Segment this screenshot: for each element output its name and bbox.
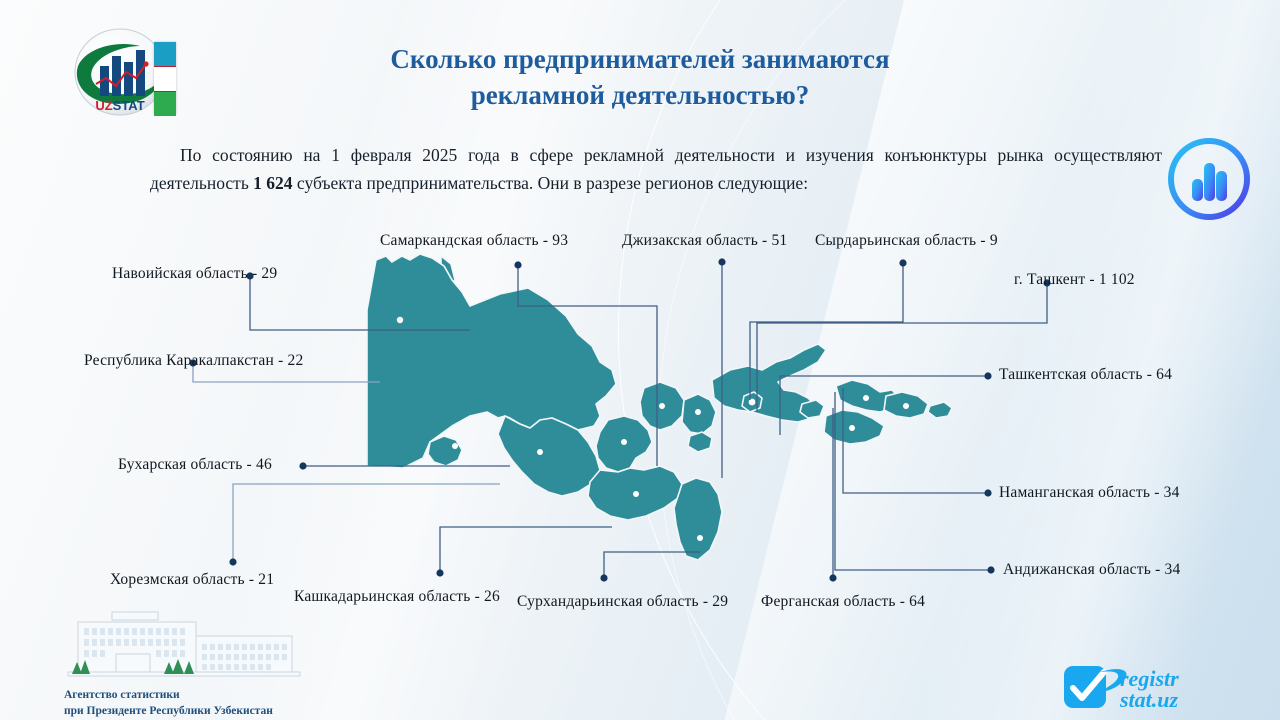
connector-syrdarya [750, 263, 903, 400]
region-label-karakalpak: Республика Каракалпакстан - 22 [84, 352, 303, 370]
registrstat-logo[interactable]: registr stat.uz [1062, 660, 1262, 712]
region-label-tashkent-city: г. Ташкент - 1 102 [1014, 271, 1135, 289]
connector-tashkent-region [780, 376, 988, 435]
agency-caption-line1: Агентство статистики [64, 688, 334, 704]
connector-samarkand [518, 265, 657, 466]
infographic-canvas: UZSTAT Сколько предпринимателей занимают… [0, 0, 1280, 720]
region-label-andijan: Андижанская область - 34 [1003, 561, 1180, 579]
connector-surkhandarya [604, 552, 700, 578]
region-label-namangan: Наманганская область - 34 [999, 484, 1180, 502]
connector-kashkadarya [440, 527, 612, 573]
agency-caption: Агентство статистики при Президенте Респ… [64, 688, 334, 719]
connector-khorezm [233, 484, 500, 562]
registrstat-line2: stat.uz [1119, 687, 1179, 712]
region-label-khorezm: Хорезмская область - 21 [110, 571, 274, 589]
region-label-surkhandarya: Сурхандарьинская область - 29 [517, 593, 728, 611]
connector-navoiy [250, 276, 470, 330]
connector-namangan [843, 388, 988, 493]
region-label-tashkent-reg: Ташкентская область - 64 [999, 366, 1172, 384]
registrstat-logo-icon[interactable]: registr stat.uz [1062, 660, 1262, 712]
region-label-bukhara: Бухарская область - 46 [118, 456, 272, 474]
region-label-syrdarya: Сырдарьинская область - 9 [815, 232, 998, 250]
region-label-samarkand: Самаркандская область - 93 [380, 232, 568, 250]
connector-andijan [835, 392, 991, 570]
agency-building-icon [60, 608, 330, 690]
agency-caption-line2: при Президенте Республики Узбекистан [64, 704, 334, 720]
agency-logo: Агентство статистики при Президенте Респ… [60, 608, 330, 716]
region-label-navoiy: Навоийская область - 29 [112, 265, 277, 283]
region-label-fergana: Ферганская область - 64 [761, 593, 925, 611]
connector-tashkent-city [757, 283, 1047, 412]
region-label-kashkadarya: Кашкадарьинская область - 26 [294, 588, 500, 606]
connector-endpoint-dots [189, 258, 1050, 581]
region-label-jizzakh: Джизакская область - 51 [622, 232, 787, 250]
